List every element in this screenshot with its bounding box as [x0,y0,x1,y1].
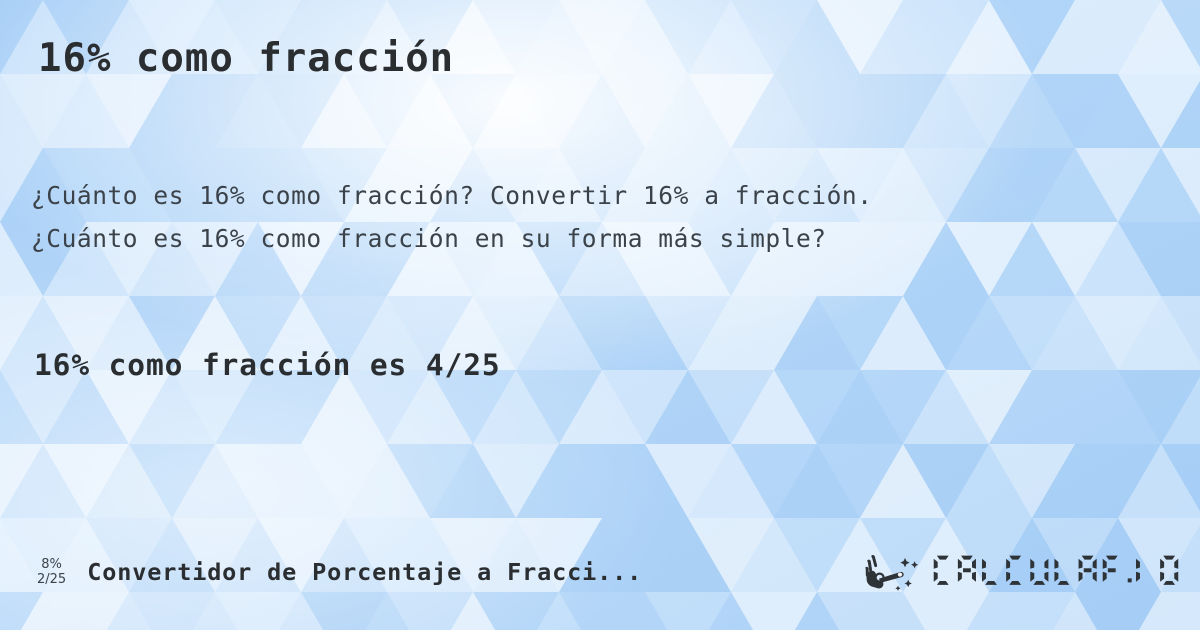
intro-line-1: ¿Cuánto es 16% como fracción? Convertir … [31,174,873,217]
intro-line-2: ¿Cuánto es 16% como fracción en su forma… [31,217,873,260]
brand-logo[interactable] [865,551,1186,593]
footer-tool-title: Convertidor de Porcentaje a Fracci... [87,558,642,586]
badge-percent: 8% [41,557,62,572]
badge-fraction: 2/25 [37,572,66,587]
brand-name [932,553,1186,591]
answer-text: 16% como fracción es 4/25 [34,348,501,382]
brand-name-lcd [932,553,1186,591]
example-fraction-badge: 8% 2/25 [37,557,66,587]
og-image-card: 16% como fracción ¿Cuánto es 16% como fr… [0,0,1200,630]
page-title: 16% como fracción [38,36,454,81]
footer-bar: 8% 2/25 Convertidor de Porcentaje a Frac… [0,546,1200,598]
intro-paragraph: ¿Cuánto es 16% como fracción? Convertir … [31,174,873,260]
hand-magic-wand-icon [865,551,923,593]
